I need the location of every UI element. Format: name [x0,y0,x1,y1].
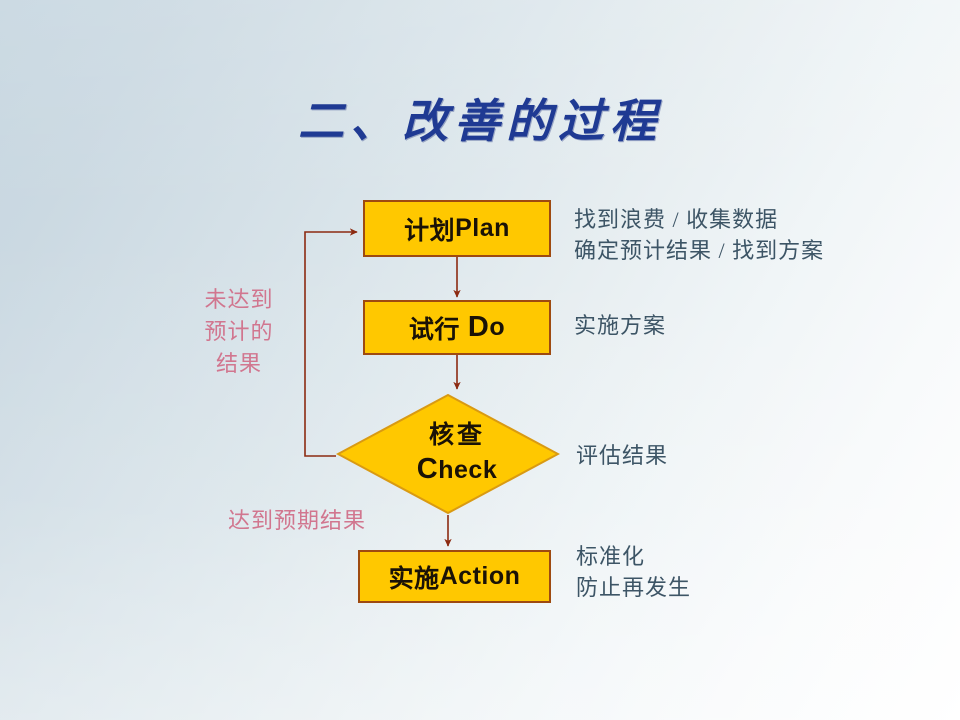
flow-node-do[interactable]: 试行Do [363,300,551,355]
note-action: 标准化 防止再发生 [576,541,691,603]
note-check: 评估结果 [576,440,668,471]
flow-node-plan-en: Plan [455,214,510,243]
flow-node-plan[interactable]: 计划Plan [363,200,551,257]
loop-label-not-achieved: 未达到 预计的 结果 [196,284,282,380]
note-action-line2: 防止再发生 [576,572,691,603]
flow-node-check[interactable]: 核查 Check [336,393,560,515]
page-title: 二、改善的过程 [0,85,960,151]
diamond-shape [336,393,560,515]
note-check-line1: 评估结果 [576,440,668,471]
note-do: 实施方案 [574,310,666,341]
flow-node-action-han: 实施 [389,559,440,595]
note-plan: 找到浪费 / 收集数据 确定预计结果 / 找到方案 [574,204,824,266]
note-action-line1: 标准化 [576,541,691,572]
loop-label-achieved: 达到预期结果 [228,505,366,537]
flow-node-do-en-rest: o [489,313,505,342]
note-plan-line2: 确定预计结果 / 找到方案 [574,235,824,266]
flow-node-do-en-initial: D [468,311,489,344]
flow-node-do-han: 试行 [409,310,460,346]
loop-label-not-achieved-line2: 预计的 [196,316,282,348]
loop-label-achieved-line1: 达到预期结果 [228,505,366,537]
note-do-line1: 实施方案 [574,310,666,341]
flow-node-plan-han: 计划 [404,211,455,247]
loop-label-not-achieved-line3: 结果 [196,348,282,380]
flow-node-action[interactable]: 实施Action [358,550,551,603]
flow-node-action-en: Action [440,562,521,591]
slide-canvas: 二、改善的过程 计划Plan 试行Do 核查 Check [0,0,960,720]
note-plan-line1: 找到浪费 / 收集数据 [574,204,824,235]
loop-label-not-achieved-line1: 未达到 [196,284,282,316]
